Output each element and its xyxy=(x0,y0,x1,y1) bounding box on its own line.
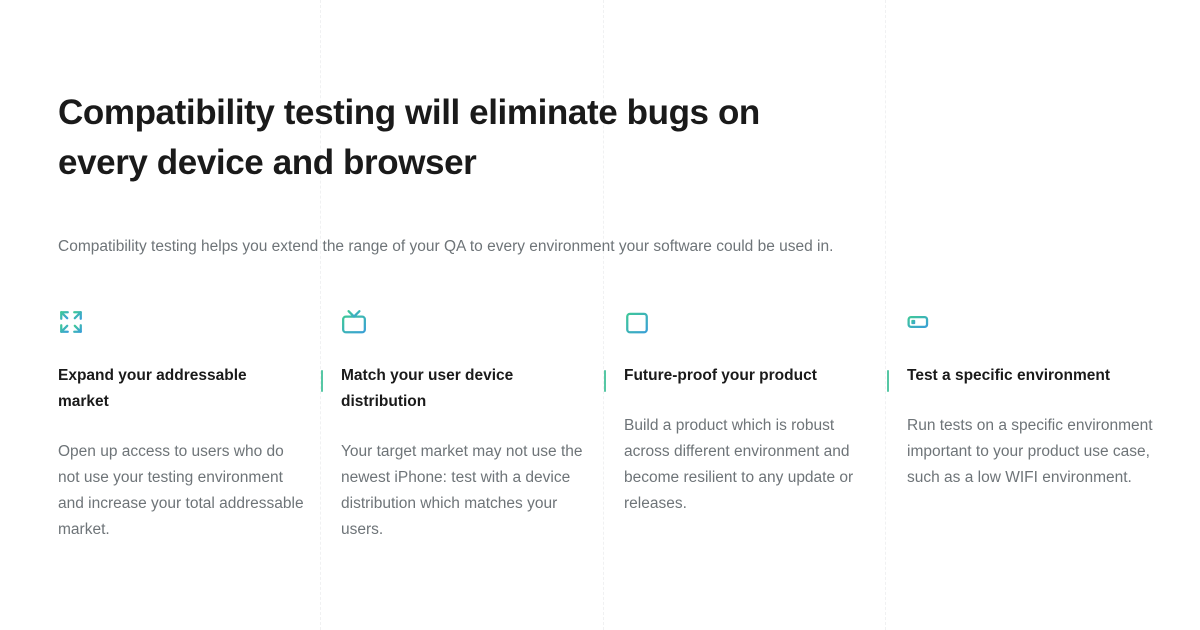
feature-description-4: Run tests on a specific environment impo… xyxy=(907,389,1159,491)
feature-description-2: Your target market may not use the newes… xyxy=(341,415,587,543)
calendar-icon xyxy=(624,305,907,339)
page-title: Compatibility testing will eliminate bug… xyxy=(58,0,858,187)
feature-card-2: Match your user device distribution Your… xyxy=(341,305,624,543)
battery-low-icon xyxy=(907,305,1190,339)
tv-icon xyxy=(341,305,624,339)
feature-body-4: Test a specific environment Run tests on… xyxy=(907,339,1190,491)
accent-bar-3 xyxy=(604,370,606,392)
feature-body-2: Match your user device distribution Your… xyxy=(341,339,624,543)
feature-title-4: Test a specific environment xyxy=(907,363,1159,389)
feature-card-3: Future-proof your product Build a produc… xyxy=(624,305,907,543)
feature-title-3: Future-proof your product xyxy=(624,363,862,389)
feature-grid: Expand your addressable market Open up a… xyxy=(58,261,1200,543)
accent-bar-4 xyxy=(887,370,889,392)
feature-description-1: Open up access to users who do not use y… xyxy=(58,415,304,543)
page-content: Compatibility testing will eliminate bug… xyxy=(0,0,1200,630)
feature-title-2: Match your user device distribution xyxy=(341,363,579,415)
expand-icon xyxy=(58,305,341,339)
accent-bar-2 xyxy=(321,370,323,392)
feature-description-3: Build a product which is robust across d… xyxy=(624,389,870,517)
feature-card-4: Test a specific environment Run tests on… xyxy=(907,305,1190,543)
feature-card-1: Expand your addressable market Open up a… xyxy=(58,305,341,543)
feature-body-1: Expand your addressable market Open up a… xyxy=(58,339,341,543)
feature-body-3: Future-proof your product Build a produc… xyxy=(624,339,907,517)
page-subtitle: Compatibility testing helps you extend t… xyxy=(58,187,870,261)
feature-title-1: Expand your addressable market xyxy=(58,363,296,415)
